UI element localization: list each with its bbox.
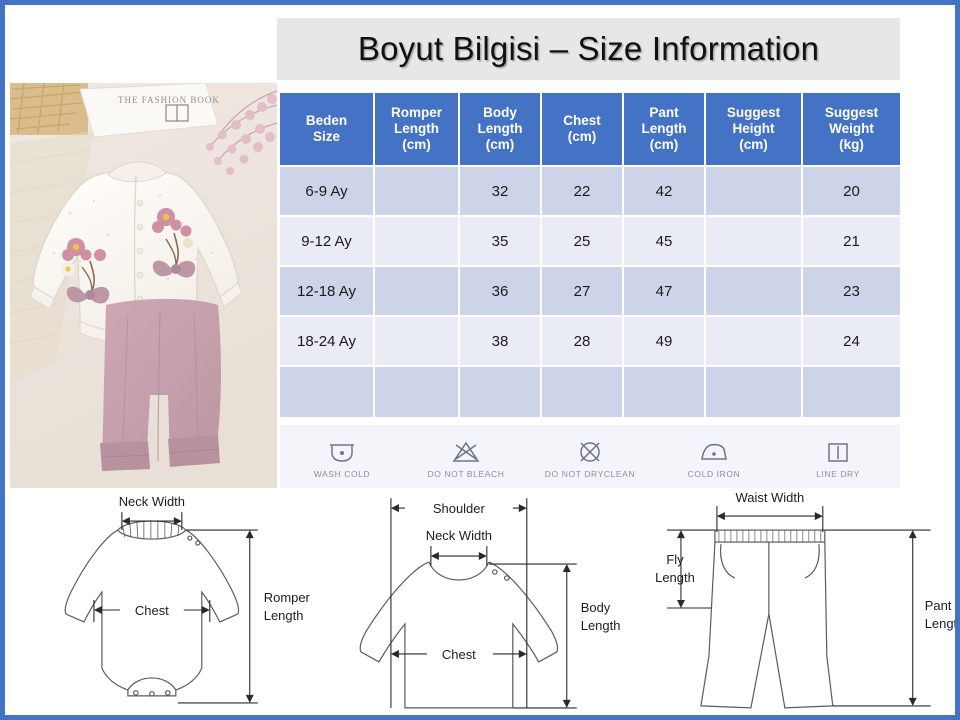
cell-size	[280, 367, 375, 417]
header-line-1: Suggest	[727, 105, 780, 120]
cell-pant: 49	[624, 317, 706, 367]
cell-height	[706, 217, 803, 267]
cell-romper	[375, 167, 460, 217]
cell-chest: 22	[542, 167, 624, 217]
header-line-1: Chest	[563, 113, 601, 128]
table-row: 9-12 Ay 35 25 45 21	[280, 217, 900, 267]
pants-diagram: Waist Width Fly Length	[643, 490, 960, 720]
header-line-1: Suggest	[825, 105, 878, 120]
label-romper-length-line2: Length	[264, 608, 304, 623]
cell-height	[706, 317, 803, 367]
measurement-diagrams: Neck Width Chest Ro	[10, 490, 960, 720]
label-romper-length-line1: Romper	[264, 590, 311, 605]
header-line-1: Romper	[391, 105, 442, 120]
cell-romper	[375, 267, 460, 317]
cell-weight: 24	[803, 317, 900, 367]
care-item-do-not-bleach: DO NOT BLEACH	[407, 435, 525, 479]
care-label: WASH COLD	[314, 469, 371, 479]
care-label: DO NOT DRYCLEAN	[545, 469, 635, 479]
cell-pant: 42	[624, 167, 706, 217]
svg-text:THE FASHION BOOK: THE FASHION BOOK	[118, 95, 220, 105]
col-header-chest: Chest (cm)	[542, 93, 624, 167]
header-line-2: Length	[394, 121, 439, 136]
cell-romper	[375, 317, 460, 367]
header-line-2: Height	[733, 121, 775, 136]
cell-weight: 20	[803, 167, 900, 217]
romper-diagram: Neck Width Chest Ro	[10, 490, 327, 720]
cold-iron-icon	[698, 435, 730, 465]
cell-chest: 28	[542, 317, 624, 367]
header-line-2: Length	[642, 121, 687, 136]
col-header-pant-length: Pant Length (cm)	[624, 93, 706, 167]
top-diagram: Shoulder Neck Width Chest	[327, 490, 644, 720]
header-line-2: (cm)	[568, 129, 597, 144]
header-line-1: Beden	[306, 113, 347, 128]
label-shoulder: Shoulder	[433, 501, 486, 516]
cell-romper	[375, 217, 460, 267]
cell-body: 32	[460, 167, 542, 217]
care-item-line-dry: LINE DRY	[779, 435, 897, 479]
cell-size: 18-24 Ay	[280, 317, 375, 367]
label-fly-length-line2: Length	[655, 570, 695, 585]
label-body-length-line2: Length	[580, 618, 620, 633]
title-bar: Boyut Bilgisi – Size Information	[277, 18, 900, 80]
slide-frame: Boyut Bilgisi – Size Information	[0, 0, 960, 720]
label-neck-width: Neck Width	[425, 528, 491, 543]
label-pant-length-line2: Length	[925, 616, 960, 631]
cell-chest: 27	[542, 267, 624, 317]
col-header-body-length: Body Length (cm)	[460, 93, 542, 167]
wash-cold-icon	[327, 435, 357, 465]
col-header-suggest-height: Suggest Height (cm)	[706, 93, 803, 167]
cell-pant: 45	[624, 217, 706, 267]
cell-height	[706, 167, 803, 217]
cell-size: 6-9 Ay	[280, 167, 375, 217]
care-label: LINE DRY	[816, 469, 860, 479]
cell-size: 9-12 Ay	[280, 217, 375, 267]
col-header-suggest-weight: Suggest Weight (kg)	[803, 93, 900, 167]
label-chest: Chest	[135, 603, 169, 618]
cell-body: 36	[460, 267, 542, 317]
label-chest: Chest	[442, 647, 476, 662]
header-line-1: Pant	[649, 105, 678, 120]
cell-weight: 21	[803, 217, 900, 267]
do-not-dryclean-icon	[575, 435, 605, 465]
header-line-3: (cm)	[402, 137, 431, 152]
care-item-cold-iron: COLD IRON	[655, 435, 773, 479]
do-not-bleach-icon	[451, 435, 481, 465]
table-header-row: Beden Size Romper Length (cm) Body Lengt…	[280, 93, 900, 167]
header-line-2: Size	[313, 129, 340, 144]
baby-knit-set-photo: THE FASHION BOOK	[10, 83, 277, 488]
cell-body	[460, 367, 542, 417]
table-row	[280, 367, 900, 417]
label-body-length-line1: Body	[580, 600, 610, 615]
header-line-3: (cm)	[650, 137, 679, 152]
label-waist-width: Waist Width	[736, 490, 805, 505]
table-row: 12-18 Ay 36 27 47 23	[280, 267, 900, 317]
col-header-size: Beden Size	[280, 93, 375, 167]
cell-body: 35	[460, 217, 542, 267]
header-line-3: (cm)	[739, 137, 768, 152]
size-information-table: Beden Size Romper Length (cm) Body Lengt…	[280, 93, 900, 417]
product-photo-illustration: THE FASHION BOOK	[10, 83, 277, 488]
cell-weight: 23	[803, 267, 900, 317]
page-title: Boyut Bilgisi – Size Information	[358, 30, 819, 68]
header-line-3: (kg)	[839, 137, 864, 152]
cell-height	[706, 267, 803, 317]
label-fly-length-line1: Fly	[667, 552, 685, 567]
cell-chest	[542, 367, 624, 417]
cell-height	[706, 367, 803, 417]
line-dry-icon	[824, 435, 852, 465]
care-instructions-strip: WASH COLD DO NOT BLEACH DO NOT DRYCL	[280, 425, 900, 488]
cell-pant	[624, 367, 706, 417]
header-line-1: Body	[483, 105, 517, 120]
label-neck-width: Neck Width	[119, 494, 185, 509]
cell-weight	[803, 367, 900, 417]
care-label: DO NOT BLEACH	[427, 469, 504, 479]
cell-size: 12-18 Ay	[280, 267, 375, 317]
table-row: 18-24 Ay 38 28 49 24	[280, 317, 900, 367]
cell-romper	[375, 367, 460, 417]
label-pant-length-line1: Pant	[925, 598, 952, 613]
header-line-2: Weight	[829, 121, 874, 136]
col-header-romper-length: Romper Length (cm)	[375, 93, 460, 167]
header-line-3: (cm)	[486, 137, 515, 152]
cell-pant: 47	[624, 267, 706, 317]
cell-body: 38	[460, 317, 542, 367]
cell-chest: 25	[542, 217, 624, 267]
table-row: 6-9 Ay 32 22 42 20	[280, 167, 900, 217]
care-item-do-not-dryclean: DO NOT DRYCLEAN	[531, 435, 649, 479]
header-line-2: Length	[478, 121, 523, 136]
care-label: COLD IRON	[688, 469, 741, 479]
care-item-wash-cold: WASH COLD	[283, 435, 401, 479]
